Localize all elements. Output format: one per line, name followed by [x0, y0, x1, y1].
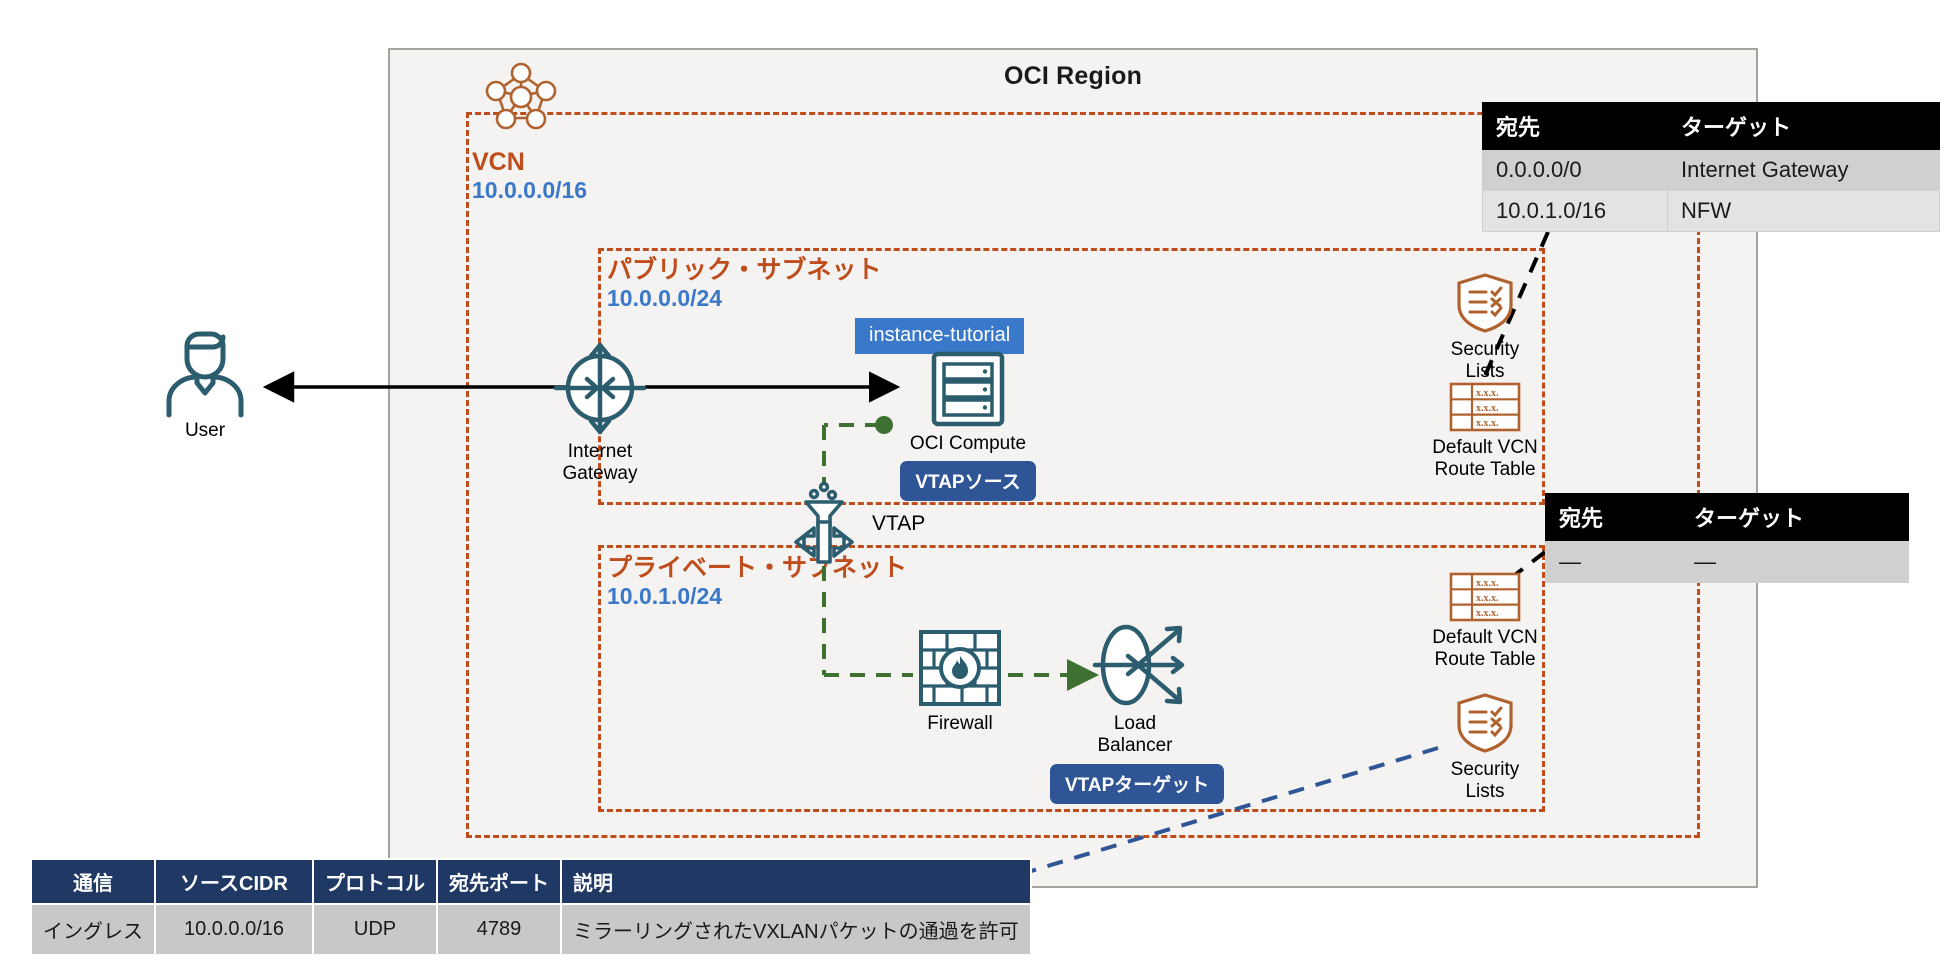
user-label: User: [150, 420, 260, 442]
table-row: イングレス 10.0.0.0/16 UDP 4789 ミラーリングされたVXLA…: [31, 904, 1031, 955]
node-load-balancer[interactable]: Load Balancer VTAPターゲット: [1050, 622, 1220, 804]
compute-label: OCI Compute: [898, 433, 1038, 455]
security-rules-header-2: プロトコル: [313, 859, 437, 904]
user-icon: [150, 325, 260, 415]
route-table-1: 宛先 ターゲット 0.0.0.0/0 Internet Gateway 10.0…: [1482, 102, 1940, 232]
table-row: 0.0.0.0/0 Internet Gateway: [1483, 150, 1940, 191]
internet-gateway-label-line2: Gateway: [540, 463, 660, 485]
security-rules-r0c0: イングレス: [31, 904, 155, 955]
route-table-1-r0c0: 0.0.0.0/0: [1483, 150, 1668, 191]
svg-text:x.x.x.: x.x.x.: [1476, 403, 1499, 414]
compute-server-icon: [898, 350, 1038, 428]
table-header-row: 通信 ソースCIDR プロトコル 宛先ポート 説明: [31, 859, 1031, 904]
security-rules-header-1: ソースCIDR: [155, 859, 313, 904]
route-table-1-r1c1: NFW: [1668, 191, 1940, 232]
svg-text:x.x.x.: x.x.x.: [1476, 593, 1499, 604]
instance-name-tag-label: instance-tutorial: [855, 318, 1024, 354]
load-balancer-label-line2: Balancer: [1050, 735, 1220, 757]
svg-text:x.x.x.: x.x.x.: [1476, 388, 1499, 399]
security-list-shield-icon: [1425, 692, 1545, 754]
route-table-1-r0c1: Internet Gateway: [1668, 150, 1940, 191]
route-table-icon: x.x.x.x.x.x.x.x.x.: [1425, 572, 1545, 622]
public-subnet-cidr: 10.0.0.0/24: [607, 285, 882, 313]
private-subnet-name: プライベート・サブネット: [607, 554, 907, 583]
route-table-2-r0c1: —: [1681, 541, 1909, 583]
node-security-lists-public[interactable]: Security Lists: [1425, 272, 1545, 384]
instance-name-tag[interactable]: instance-tutorial: [855, 318, 1024, 354]
route-table-2-r0c0: —: [1546, 541, 1681, 583]
load-balancer-icon: [1050, 622, 1220, 708]
security-list-shield-icon: [1425, 272, 1545, 334]
route-table-private-line2: Route Table: [1425, 649, 1545, 671]
route-table-1-r1c0: 10.0.1.0/16: [1483, 191, 1668, 232]
node-route-table-public[interactable]: x.x.x.x.x.x.x.x.x. Default VCN Route Tab…: [1425, 382, 1545, 482]
route-table-public-line2: Route Table: [1425, 459, 1545, 481]
private-subnet-cidr: 10.0.1.0/24: [607, 583, 907, 611]
node-vtap[interactable]: [786, 482, 862, 566]
security-rules-r0c2: UDP: [313, 904, 437, 955]
diagram-canvas: OCI Region VCN 10.0.0.0/16 パ: [0, 0, 1952, 978]
svg-text:x.x.x.: x.x.x.: [1476, 578, 1499, 589]
vcn-network-icon: [478, 60, 564, 132]
svg-text:x.x.x.: x.x.x.: [1476, 418, 1499, 429]
public-subnet-name: パブリック・サブネット: [607, 256, 882, 285]
vtap-target-badge-label: VTAPターゲット: [1050, 764, 1224, 804]
vtap-icon: [786, 482, 862, 566]
node-firewall[interactable]: Firewall: [900, 628, 1020, 735]
table-header-row: 宛先 ターゲット: [1483, 103, 1940, 150]
security-rules-r0c4: ミラーリングされたVXLANパケットの通過を許可: [561, 904, 1031, 955]
route-table-public-line1: Default VCN: [1425, 437, 1545, 459]
firewall-icon: [900, 628, 1020, 708]
internet-gateway-icon: [540, 340, 660, 436]
vtap-source-badge-label: VTAPソース: [900, 461, 1035, 501]
node-route-table-private[interactable]: x.x.x.x.x.x.x.x.x. Default VCN Route Tab…: [1425, 572, 1545, 672]
route-table-2: 宛先 ターゲット — —: [1545, 493, 1909, 583]
node-oci-compute[interactable]: OCI Compute VTAPソース: [898, 350, 1038, 501]
internet-gateway-label-line1: Internet: [540, 441, 660, 463]
route-table-icon: x.x.x.x.x.x.x.x.x.: [1425, 382, 1545, 432]
route-table-2-header-1: ターゲット: [1681, 494, 1909, 541]
security-rules-header-3: 宛先ポート: [437, 859, 561, 904]
table-row: 10.0.1.0/16 NFW: [1483, 191, 1940, 232]
table-header-row: 宛先 ターゲット: [1546, 494, 1909, 541]
private-subnet-label: プライベート・サブネット 10.0.1.0/24: [607, 554, 907, 610]
firewall-label: Firewall: [900, 713, 1020, 735]
route-table-1-header-1: ターゲット: [1668, 103, 1940, 150]
vtap-label: VTAP: [872, 512, 925, 536]
security-rules-table: 通信 ソースCIDR プロトコル 宛先ポート 説明 イングレス 10.0.0.0…: [30, 858, 1032, 956]
node-internet-gateway[interactable]: Internet Gateway: [540, 340, 660, 486]
security-rules-header-4: 説明: [561, 859, 1031, 904]
node-security-lists-private[interactable]: Security Lists: [1425, 692, 1545, 804]
route-table-1-header-0: 宛先: [1483, 103, 1668, 150]
vcn-name: VCN: [472, 148, 587, 177]
vcn-cidr: 10.0.0.0/16: [472, 177, 587, 205]
security-rules-header-0: 通信: [31, 859, 155, 904]
route-table-2-header-0: 宛先: [1546, 494, 1681, 541]
svg-text:x.x.x.: x.x.x.: [1476, 608, 1499, 619]
vtap-target-badge: VTAPターゲット: [1050, 758, 1220, 804]
security-lists-public-line1: Security: [1425, 339, 1545, 361]
security-lists-private-line1: Security: [1425, 759, 1545, 781]
security-rules-r0c1: 10.0.0.0/16: [155, 904, 313, 955]
public-subnet-label: パブリック・サブネット 10.0.0.0/24: [607, 256, 882, 312]
table-row: — —: [1546, 541, 1909, 583]
security-lists-public-line2: Lists: [1425, 361, 1545, 383]
vtap-source-badge: VTAPソース: [898, 455, 1038, 501]
security-lists-private-line2: Lists: [1425, 781, 1545, 803]
oci-region-title: OCI Region: [390, 62, 1756, 91]
security-rules-r0c3: 4789: [437, 904, 561, 955]
vcn-label: VCN 10.0.0.0/16: [472, 148, 587, 204]
node-user[interactable]: User: [150, 325, 260, 442]
load-balancer-label-line1: Load: [1050, 713, 1220, 735]
route-table-private-line1: Default VCN: [1425, 627, 1545, 649]
